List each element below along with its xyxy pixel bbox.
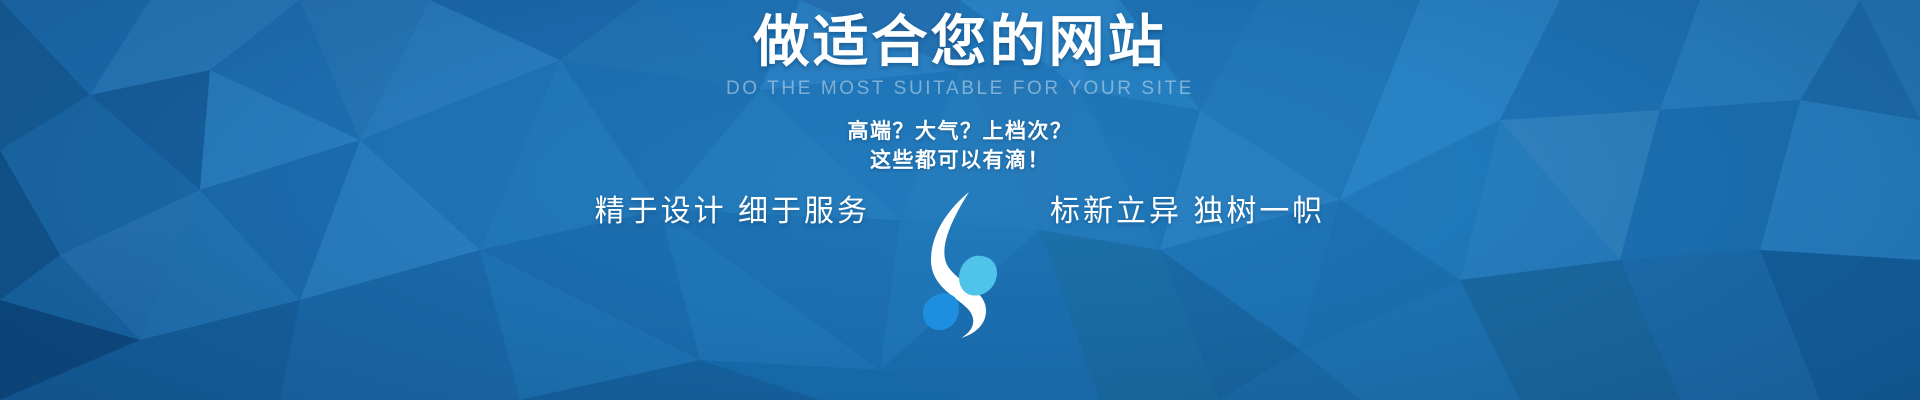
banner-content: 做适合您的网站 DO THE MOST SUITABLE FOR YOUR SI…: [0, 0, 1920, 400]
logo-slot: [900, 212, 1020, 213]
water-drop-swoosh-logo: [905, 190, 1015, 340]
slogan-row: 精于设计 细于服务 标新立异 独树一帜: [0, 197, 1920, 227]
slogan-left: 精于设计 细于服务: [540, 197, 900, 227]
page-title: 做适合您的网站: [754, 14, 1167, 70]
tagline-line-2: 这些都可以有滴！: [848, 146, 1073, 175]
tagline-line-1: 高端？大气？上档次？: [848, 117, 1073, 146]
slogan-right: 标新立异 独树一帜: [1020, 197, 1380, 227]
tagline-block: 高端？大气？上档次？ 这些都可以有滴！: [848, 117, 1073, 175]
subtitle-english: DO THE MOST SUITABLE FOR YOUR SITE: [726, 79, 1194, 98]
hero-banner: 做适合您的网站 DO THE MOST SUITABLE FOR YOUR SI…: [0, 0, 1920, 400]
